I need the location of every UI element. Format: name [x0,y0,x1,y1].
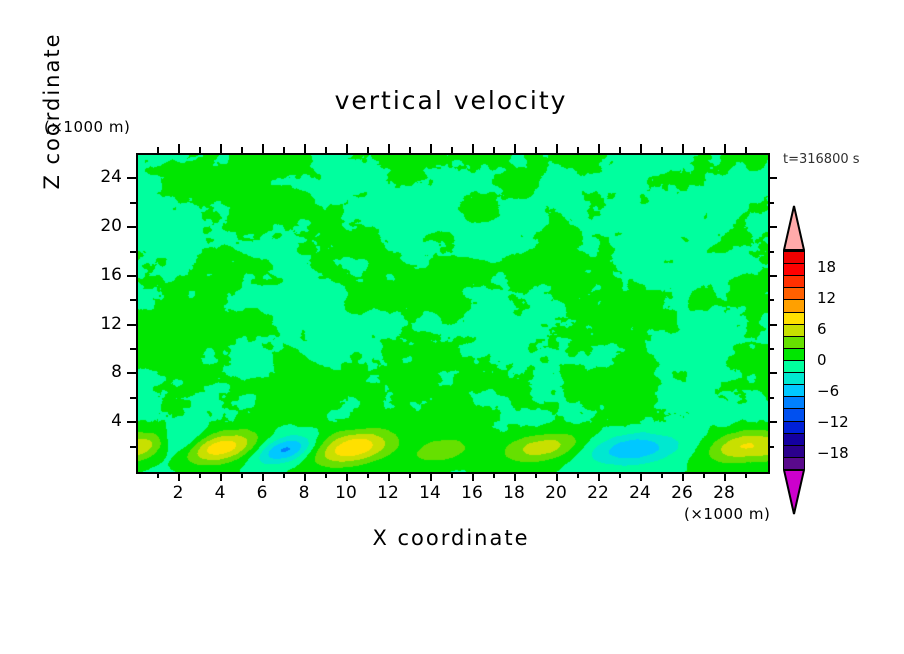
x-minor-tick-top [409,147,411,153]
x-major-tick-top [220,144,222,153]
y-minor-tick [130,299,136,301]
y-minor-tick [130,446,136,448]
x-minor-tick [661,472,663,478]
x-minor-tick [157,472,159,478]
y-minor-tick-right [768,397,774,399]
y-tick-label: 24 [74,167,122,187]
y-major-tick [127,324,136,326]
x-major-tick [598,472,600,481]
y-axis-title: Z coordinate [40,0,66,226]
x-minor-tick [283,472,285,478]
y-minor-tick-right [768,299,774,301]
page-title: vertical velocity [136,86,766,115]
x-major-tick-top [304,144,306,153]
x-major-tick-top [178,144,180,153]
x-minor-tick-top [199,147,201,153]
x-minor-tick-top [367,147,369,153]
x-major-tick [682,472,684,481]
x-major-tick [346,472,348,481]
x-major-tick [262,472,264,481]
x-major-tick-top [682,144,684,153]
y-minor-tick [130,251,136,253]
colorbar-tick-label: 0 [817,351,827,369]
x-major-tick [430,472,432,481]
y-tick-label: 16 [74,265,122,285]
x-major-tick [388,472,390,481]
y-major-tick-right [768,177,777,179]
y-major-tick-right [768,226,777,228]
x-major-tick-top [640,144,642,153]
y-major-tick-right [768,372,777,374]
y-tick-label: 8 [74,362,122,382]
y-major-tick-right [768,275,777,277]
x-minor-tick-top [619,147,621,153]
x-major-tick [220,472,222,481]
x-minor-tick [535,472,537,478]
x-major-tick [304,472,306,481]
plot-area [136,153,770,474]
x-major-tick [178,472,180,481]
x-minor-tick-top [745,147,747,153]
colorbar-tick-label: −6 [817,382,839,400]
colorbar-tick-label: 18 [817,258,836,276]
x-major-tick-top [430,144,432,153]
x-axis-units-label: (×1000 m) [684,505,770,523]
x-minor-tick [619,472,621,478]
x-major-tick [514,472,516,481]
x-major-tick-top [556,144,558,153]
x-minor-tick-top [493,147,495,153]
x-major-tick [724,472,726,481]
colorbar-tick-label: 12 [817,289,836,307]
x-major-tick-top [472,144,474,153]
x-major-tick-top [724,144,726,153]
time-annotation: t=316800 s [783,152,860,167]
colorbar-tick-label: −18 [817,444,849,462]
y-major-tick-right [768,324,777,326]
y-major-tick [127,177,136,179]
y-major-tick [127,275,136,277]
y-tick-label: 20 [74,216,122,236]
contour-field [138,155,768,472]
x-minor-tick-top [577,147,579,153]
colorbar-over-arrow [783,205,805,251]
x-minor-tick-top [703,147,705,153]
x-major-tick-top [346,144,348,153]
y-tick-label: 12 [74,314,122,334]
colorbar [783,205,805,515]
y-minor-tick-right [768,251,774,253]
y-tick-label: 4 [74,411,122,431]
colorbar-under-arrow [783,469,805,515]
x-tick-label: 28 [699,483,749,503]
x-minor-tick-top [157,147,159,153]
x-major-tick-top [262,144,264,153]
y-minor-tick [130,202,136,204]
y-minor-tick [130,348,136,350]
y-minor-tick [130,397,136,399]
x-major-tick [640,472,642,481]
colorbar-tick-label: 6 [817,320,827,338]
x-minor-tick [577,472,579,478]
x-minor-tick-top [661,147,663,153]
y-minor-tick-right [768,202,774,204]
x-minor-tick [367,472,369,478]
y-major-tick [127,226,136,228]
x-minor-tick-top [535,147,537,153]
y-major-tick-right [768,421,777,423]
figure-canvas: vertical velocity (×1000 m) Z coordinate… [0,0,904,654]
x-minor-tick [241,472,243,478]
x-minor-tick [409,472,411,478]
x-minor-tick-top [451,147,453,153]
y-minor-tick-right [768,348,774,350]
x-major-tick-top [598,144,600,153]
x-minor-tick [325,472,327,478]
x-minor-tick [745,472,747,478]
x-axis-title: X coordinate [136,526,766,550]
x-minor-tick [493,472,495,478]
x-minor-tick [703,472,705,478]
x-minor-tick-top [283,147,285,153]
y-major-tick [127,421,136,423]
x-minor-tick [199,472,201,478]
y-major-tick [127,372,136,374]
x-minor-tick [451,472,453,478]
x-minor-tick-top [241,147,243,153]
y-minor-tick-right [768,446,774,448]
x-major-tick [472,472,474,481]
colorbar-tick-label: −12 [817,413,849,431]
x-major-tick-top [388,144,390,153]
x-major-tick [556,472,558,481]
x-major-tick-top [514,144,516,153]
x-minor-tick-top [325,147,327,153]
